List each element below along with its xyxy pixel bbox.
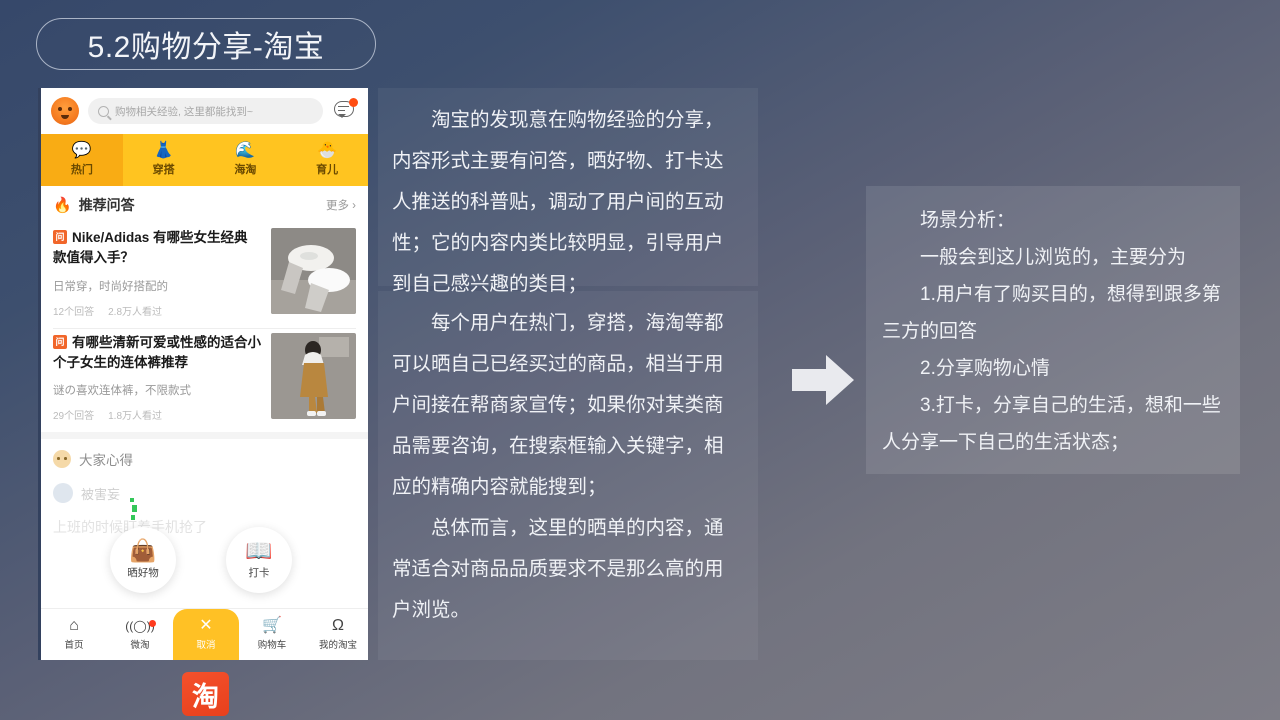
item-view-count: 2.8万人看过	[108, 303, 162, 318]
paragraph-1: 淘宝的发现意在购物经验的分享，内容形式主要有问答，晒好物、打卡达人推送的科普贴，…	[392, 100, 742, 305]
sneakers-photo[interactable]	[271, 228, 356, 314]
analysis-panel: 场景分析： 一般会到这儿浏览的，主要分为 1.用户有了购买目的，想得到跟多第三方…	[866, 186, 1240, 474]
tab-hot-label: 热门	[71, 161, 93, 177]
dress-icon: 👗	[154, 143, 174, 159]
overseas-arrow-icon: 🌊	[235, 143, 255, 159]
description-panel-2: 每个用户在热门，穿搭，海淘等都可以晒自己已经买过的商品，相当于用户间接在帮商家宣…	[378, 291, 758, 660]
nav-item-weitao-label: 微淘	[130, 637, 149, 651]
search-placeholder: 购物相关经验, 这里都能找到~	[115, 104, 253, 119]
nav-item-home[interactable]: ⌂ 首页	[41, 609, 107, 660]
section-divider	[41, 432, 368, 439]
nav-item-my-taobao-label: 我的淘宝	[319, 637, 357, 651]
item-subtitle: 谜の喜欢连体裤，不限款式	[53, 382, 261, 398]
category-tabs: 💬 热门 👗 穿搭 🌊 海淘 🐣 育儿	[41, 134, 368, 186]
calendar-stamp-icon: 📖	[245, 540, 272, 562]
faded-line-2: 上班的时候盯着手机抢了	[53, 517, 356, 537]
item-title-text: 有哪些清新可爱或性感的适合小个子女生的连体裤推荐	[53, 335, 261, 370]
tab-overseas[interactable]: 🌊 海淘	[205, 134, 287, 186]
search-input[interactable]: 购物相关经验, 这里都能找到~	[88, 98, 323, 124]
paragraph-2: 每个用户在热门，穿搭，海淘等都可以晒自己已经买过的商品，相当于用户间接在帮商家宣…	[392, 303, 742, 508]
tab-outfit[interactable]: 👗 穿搭	[123, 134, 205, 186]
tab-parenting[interactable]: 🐣 育儿	[286, 134, 368, 186]
fab-check-in-label: 打卡	[249, 565, 270, 580]
analysis-heading: 场景分析：	[882, 202, 1224, 239]
item-view-count: 1.8万人看过	[108, 407, 162, 422]
section-title-qa: 推荐问答	[79, 195, 135, 215]
tab-outfit-label: 穿搭	[153, 161, 175, 177]
item-meta: 29个回答 1.8万人看过	[53, 407, 261, 422]
right-arrow-icon	[792, 352, 854, 408]
analysis-intro: 一般会到这儿浏览的，主要分为	[882, 239, 1224, 276]
nav-item-my-taobao[interactable]: Ω 我的淘宝	[305, 609, 368, 660]
bottom-nav: ⌂ 首页 ((◯)) 微淘 ✕ 取消 🛒 购物车 Ω 我的淘宝	[41, 608, 368, 660]
analysis-item-3: 3.打卡，分享自己的生活，想和一些人分享一下自己的生活状态；	[882, 387, 1224, 461]
faded-content: 被害妄 上班的时候盯着手机抢了	[41, 469, 368, 537]
home-icon: ⌂	[69, 618, 79, 634]
tab-hot[interactable]: 💬 热门	[41, 134, 123, 186]
tab-parenting-label: 育儿	[316, 161, 338, 177]
fab-check-in[interactable]: 📖 打卡	[226, 527, 292, 593]
nav-item-cancel-label: 取消	[196, 637, 215, 651]
item-answer-count: 29个回答	[53, 407, 94, 422]
fab-share-goods[interactable]: 👜 晒好物	[110, 527, 176, 593]
question-badge: 问	[53, 335, 67, 349]
item-title-text: Nike/Adidas 有哪些女生经典款值得入手？	[53, 230, 248, 265]
list-item[interactable]: 问有哪些清新可爱或性感的适合小个子女生的连体裤推荐 谜の喜欢连体裤，不限款式 2…	[41, 329, 368, 433]
section-header-qa: 🔥 推荐问答 更多 ›	[41, 186, 368, 224]
item-title: 问有哪些清新可爱或性感的适合小个子女生的连体裤推荐	[53, 333, 261, 374]
tab-overseas-label: 海淘	[234, 161, 256, 177]
fab-share-goods-label: 晒好物	[127, 565, 159, 580]
section-title-notes: 大家心得	[79, 449, 133, 469]
page-title: 5.2购物分享-淘宝	[88, 22, 325, 66]
nav-item-cart[interactable]: 🛒 购物车	[239, 609, 305, 660]
hot-chat-icon: 💬	[72, 143, 92, 159]
description-panel-1: 淘宝的发现意在购物经验的分享，内容形式主要有问答，晒好物、打卡达人推送的科普贴，…	[378, 88, 758, 286]
avatar	[53, 483, 73, 503]
jumpsuit-photo[interactable]	[271, 333, 356, 419]
nav-item-weitao[interactable]: ((◯)) 微淘	[107, 609, 173, 660]
message-bubble-icon[interactable]	[332, 98, 358, 124]
close-icon: ✕	[199, 618, 212, 634]
item-meta: 12个回答 2.8万人看过	[53, 303, 261, 318]
baby-icon: 🐣	[317, 143, 337, 159]
analysis-item-1: 1.用户有了购买目的，想得到跟多第三方的回答	[882, 276, 1224, 350]
message-badge	[349, 98, 358, 107]
nav-badge	[149, 620, 156, 627]
section-header-notes: 大家心得	[41, 439, 368, 469]
cart-icon: 🛒	[262, 618, 282, 634]
search-icon	[98, 106, 109, 117]
person-icon: Ω	[332, 618, 344, 634]
phone-mockup: 购物相关经验, 这里都能找到~ 💬 热门 👗 穿搭 🌊 海淘 🐣 育儿 🔥 推荐…	[38, 88, 368, 660]
item-title: 问Nike/Adidas 有哪些女生经典款值得入手？	[53, 228, 261, 269]
nav-item-cart-label: 购物车	[258, 637, 287, 651]
item-answer-count: 12个回答	[53, 303, 94, 318]
user-avatar-icon	[53, 450, 71, 468]
more-link[interactable]: 更多 ›	[326, 197, 356, 213]
nav-item-cancel[interactable]: ✕ 取消	[173, 609, 239, 660]
taobao-logo: 淘	[182, 672, 229, 716]
paragraph-3: 总体而言，这里的晒单的内容，通常适合对商品品质要求不是那么高的用户浏览。	[392, 508, 742, 631]
slide-title-pill: 5.2购物分享-淘宝	[36, 18, 376, 70]
faded-line-1: 被害妄	[81, 484, 120, 503]
fire-icon: 🔥	[53, 196, 72, 214]
question-badge: 问	[53, 230, 67, 244]
shopping-bag-icon: 👜	[129, 540, 156, 562]
analysis-item-2: 2.分享购物心情	[882, 350, 1224, 387]
taobao-avatar-icon[interactable]	[51, 97, 79, 125]
phone-search-row: 购物相关经验, 这里都能找到~	[41, 88, 368, 134]
list-item[interactable]: 问Nike/Adidas 有哪些女生经典款值得入手？ 日常穿，时尚好搭配的 12…	[41, 224, 368, 328]
nav-item-home-label: 首页	[64, 637, 83, 651]
item-subtitle: 日常穿，时尚好搭配的	[53, 278, 261, 294]
